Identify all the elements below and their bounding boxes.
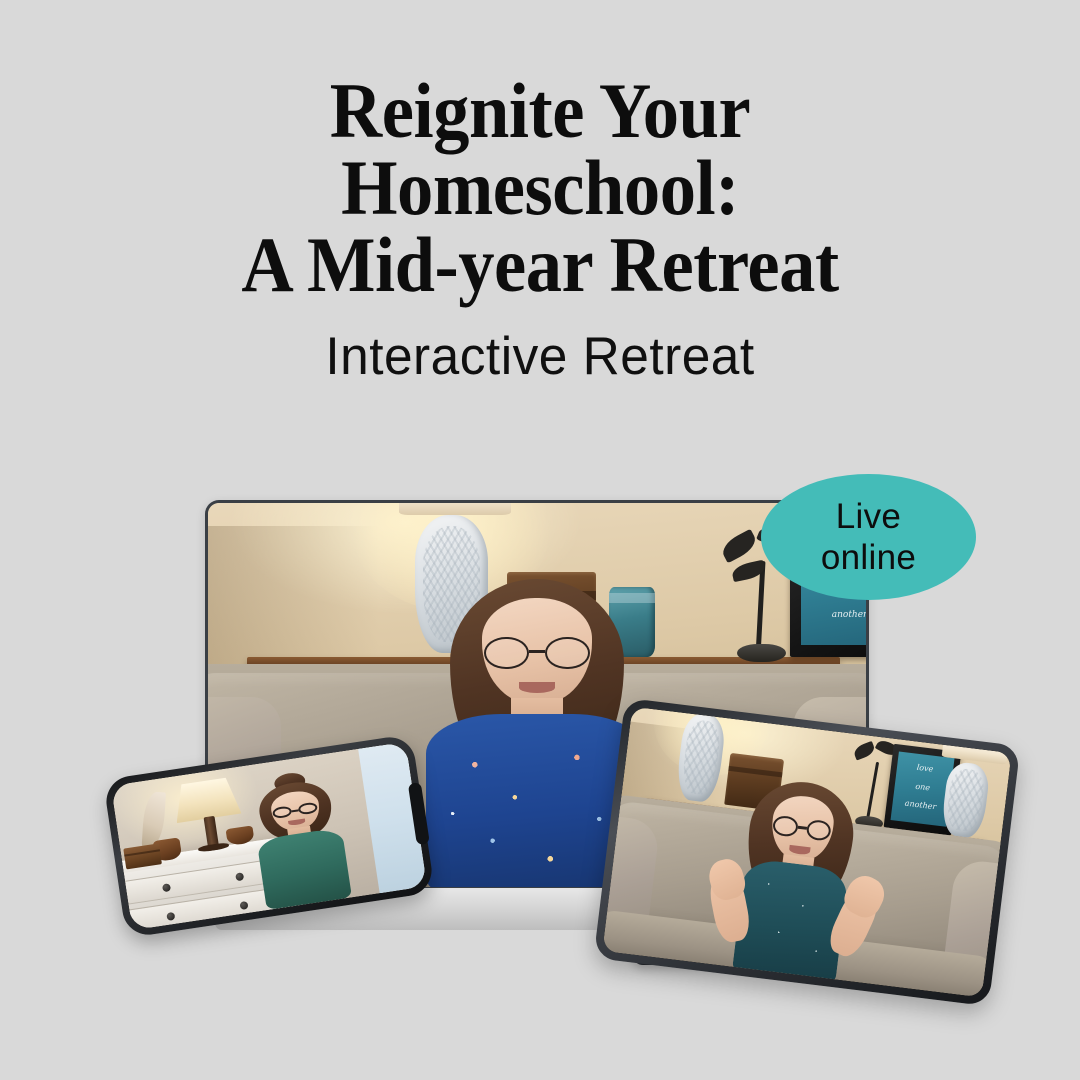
glasses-lens-left	[772, 815, 799, 838]
framed-art-line-3: another	[801, 611, 866, 620]
glasses-lens-right	[806, 819, 833, 842]
participant-2-person	[708, 771, 884, 990]
tablet-screen: love one another	[602, 707, 1011, 998]
lamp-shade	[399, 503, 511, 515]
framed-art-line-3: another	[892, 798, 949, 813]
host-glasses	[484, 637, 589, 669]
glasses-bridge	[292, 809, 300, 813]
video-call-participant-2-scene: love one another	[602, 707, 1011, 998]
glasses-bridge	[529, 650, 546, 653]
live-online-badge: Live online	[761, 474, 976, 600]
glasses-lens-right	[545, 637, 589, 669]
tablet: love one another	[594, 698, 1021, 1007]
participant-2-torso-top	[732, 858, 849, 987]
participant-1-person	[231, 768, 368, 913]
poster-canvas: Reignite Your Homeschool: A Mid-year Ret…	[0, 0, 1080, 1080]
participant-1-torso-top	[256, 828, 351, 911]
glasses-bridge	[797, 826, 807, 830]
framed-art-line-1: love	[897, 761, 954, 776]
host-mouth	[519, 682, 556, 693]
lamp-shade	[171, 776, 241, 823]
glasses-lens-left	[484, 637, 528, 669]
tablet-body: love one another	[594, 698, 1021, 1007]
sculpture-base	[737, 644, 786, 661]
badge-line-2: online	[821, 537, 916, 578]
framed-art-line-2: one	[894, 780, 951, 795]
badge-line-1: Live	[836, 496, 901, 537]
